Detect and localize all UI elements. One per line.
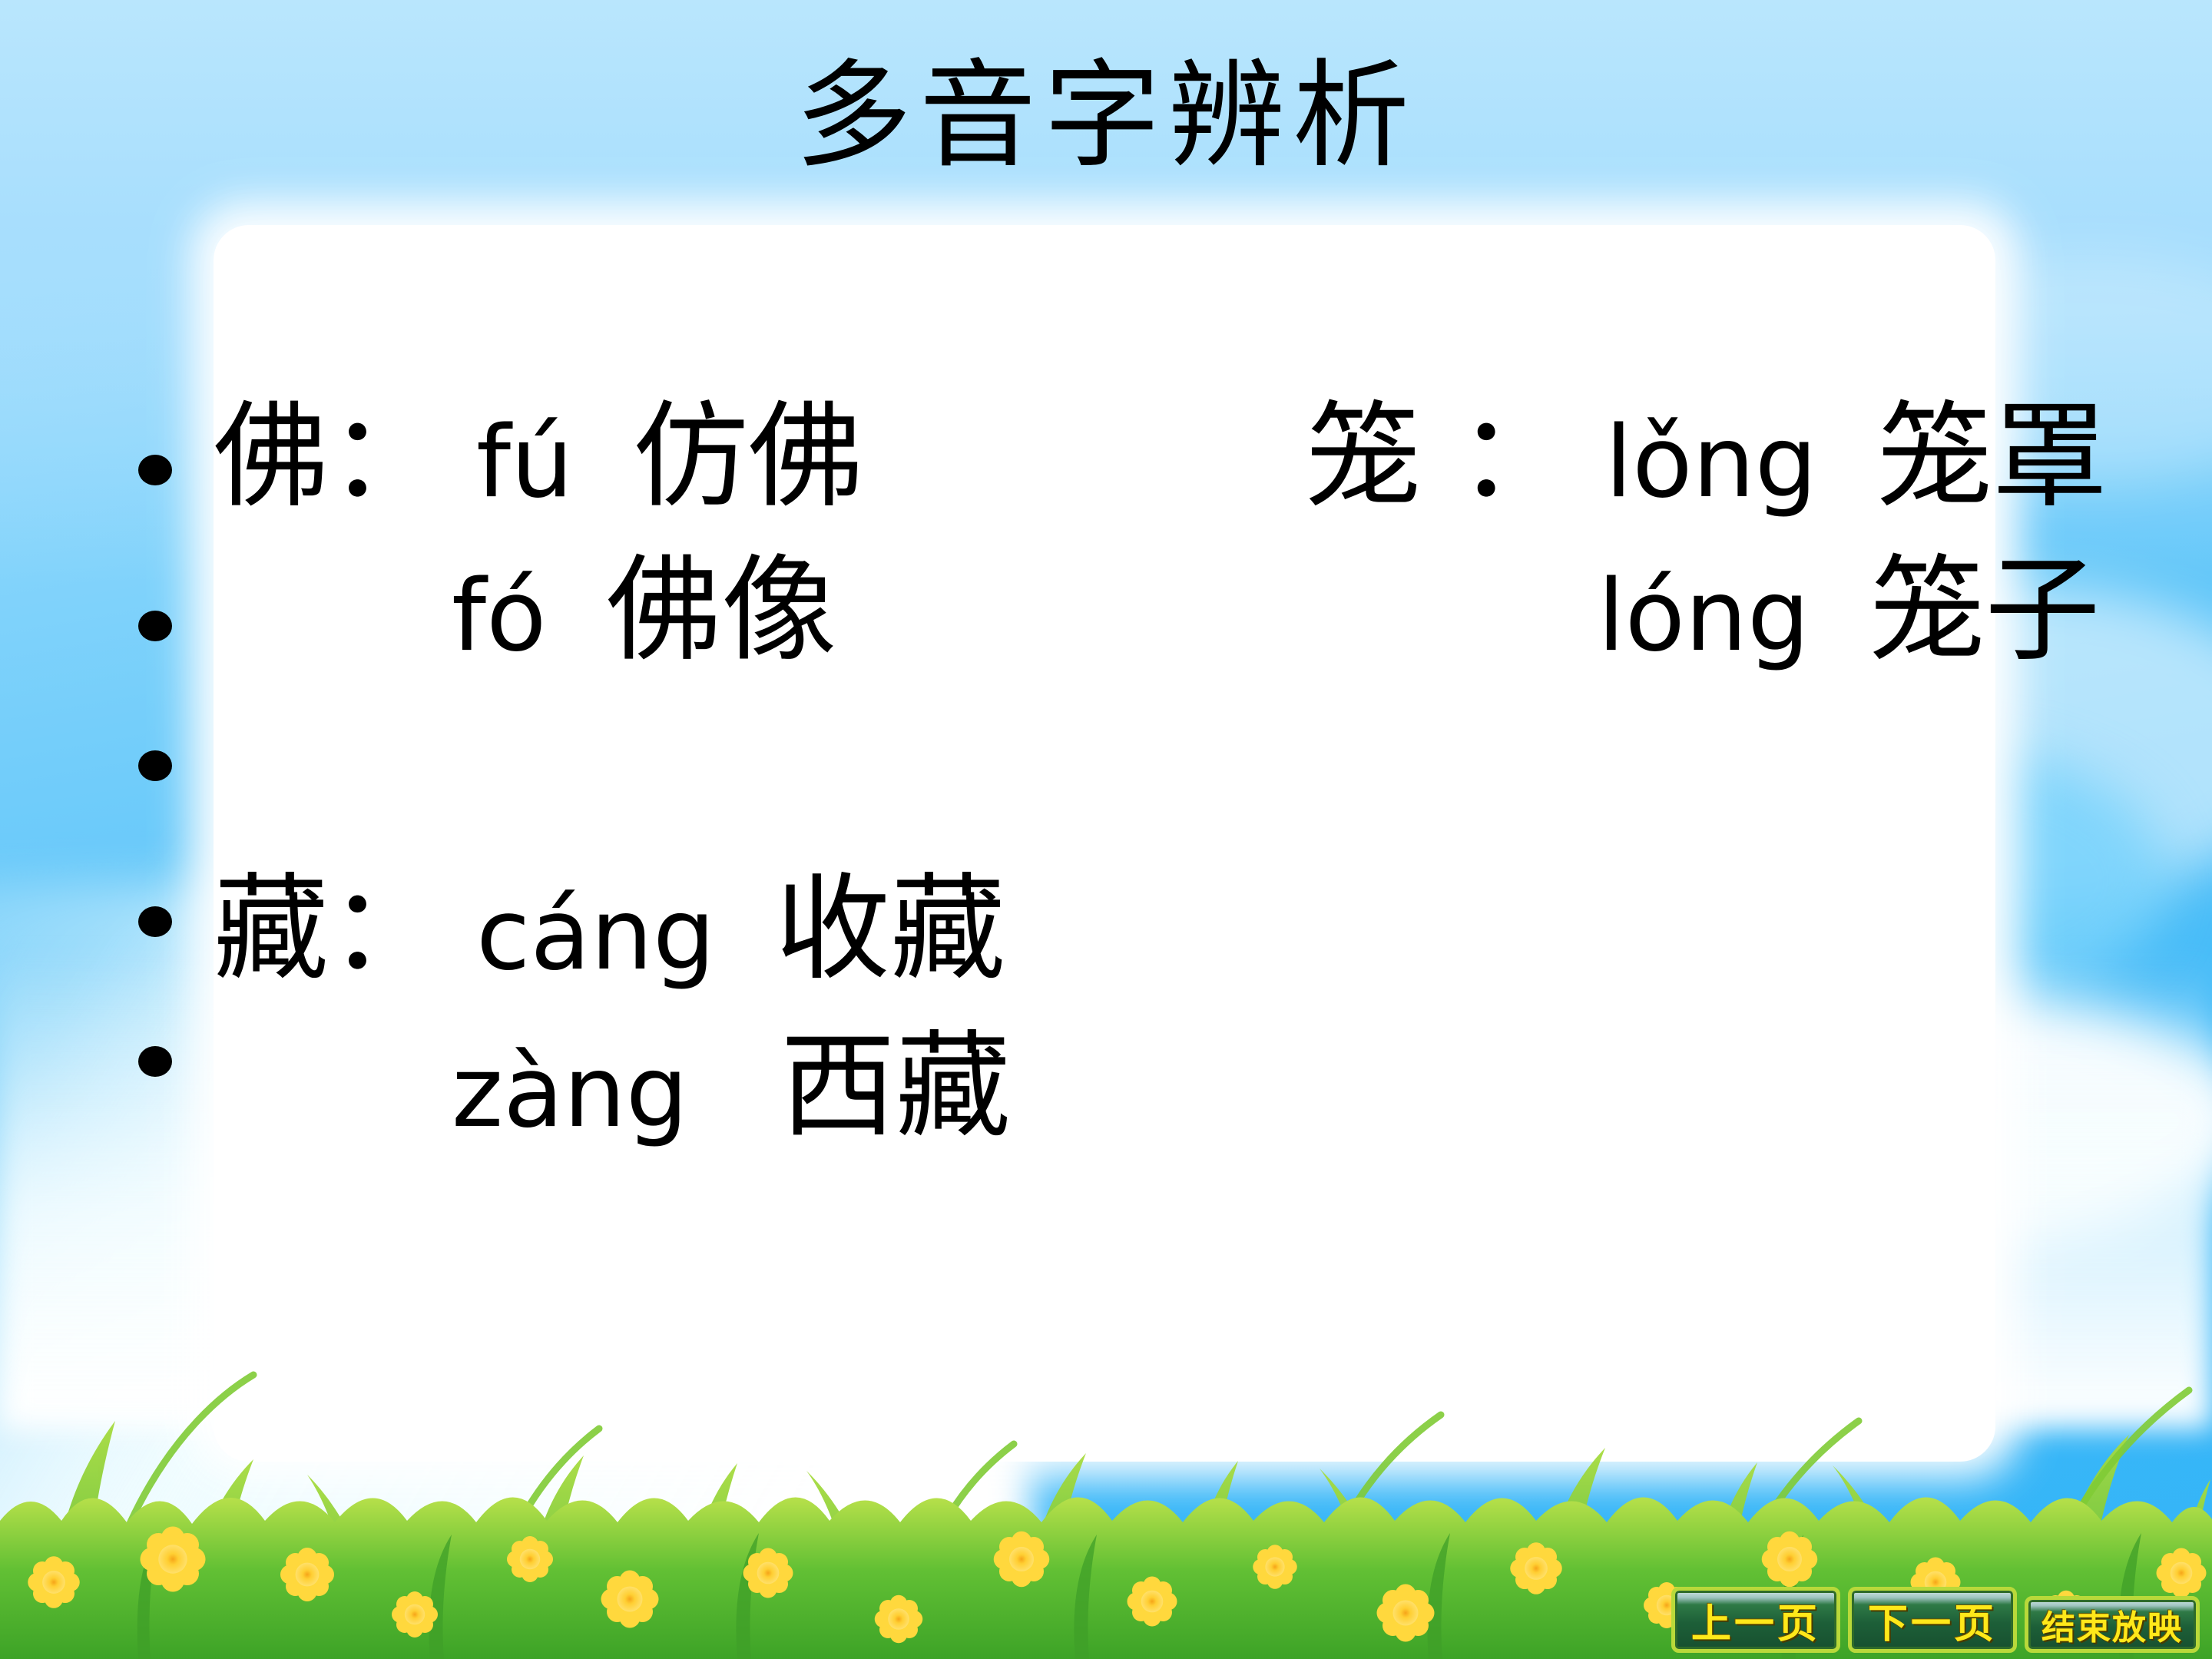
headword-character: 佛：: [214, 390, 444, 524]
example-word: 西藏: [780, 1020, 1011, 1154]
headword-character: 藏：: [214, 863, 444, 996]
pinyin-text: fú: [476, 406, 573, 520]
slide-canvas: 多音字辨析 佛：fú仿佛 fó佛像 藏：cáng收藏 zàng西藏 笼 ：lǒn…: [0, 0, 2212, 1659]
entry-row-long-1: 笼 ：lǒng笼罩: [1306, 399, 2108, 515]
example-word: 仿佛: [633, 390, 863, 524]
pinyin-text: cáng: [476, 878, 715, 992]
slide-navigation-bar: 上一页 下一页 结束放映: [1671, 1587, 2200, 1653]
example-word: 笼罩: [1877, 390, 2108, 524]
bullet-marker-2: [138, 611, 172, 641]
example-word: 笼子: [1869, 544, 2100, 677]
previous-page-button[interactable]: 上一页: [1671, 1587, 1840, 1653]
end-show-button[interactable]: 结束放映: [2025, 1596, 2200, 1653]
example-word: 佛像: [606, 544, 836, 677]
bullet-marker-1: [138, 455, 172, 485]
entry-row-long-2: lóng笼子: [1598, 553, 2100, 668]
pinyin-text: fó: [452, 559, 546, 674]
entry-row-cang-1: 藏：cáng收藏: [214, 872, 1005, 987]
bullet-marker-5: [138, 1046, 172, 1077]
page-title: 多音字辨析: [0, 46, 2212, 186]
next-page-button[interactable]: 下一页: [1848, 1587, 2017, 1653]
pinyin-text: zàng: [452, 1035, 688, 1150]
entry-row-fo-2: fó佛像: [452, 553, 836, 668]
example-word: 收藏: [775, 863, 1005, 996]
headword-character: 笼 ：: [1306, 390, 1573, 524]
bullet-marker-3: [138, 750, 172, 781]
pinyin-text: lóng: [1598, 559, 1810, 674]
pinyin-text: lǒng: [1605, 406, 1817, 520]
bullet-marker-4: [138, 906, 172, 937]
entry-row-fo-1: 佛：fú仿佛: [214, 399, 863, 515]
entry-row-cang-2: zàng西藏: [452, 1029, 1011, 1144]
